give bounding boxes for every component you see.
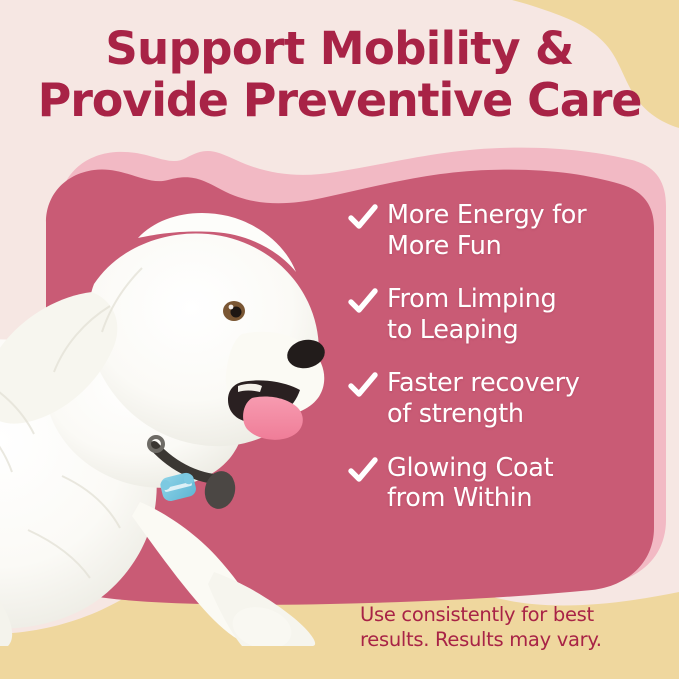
list-item: Glowing Coat from Within [348, 453, 648, 514]
page-title-line-1: Support Mobility & [0, 24, 679, 75]
check-icon [348, 200, 378, 234]
check-icon [348, 284, 378, 318]
check-icon [348, 368, 378, 402]
disclaimer-text: Use consistently for best results. Resul… [360, 603, 670, 653]
list-item: From Limping to Leaping [348, 284, 648, 345]
benefits-list: More Energy for More Fun From Limping to… [348, 200, 648, 514]
list-item-label: From Limping to Leaping [387, 284, 556, 345]
dog-eye-glint [229, 305, 234, 310]
list-item-label: Glowing Coat from Within [387, 453, 553, 514]
check-icon [348, 453, 378, 487]
list-item: Faster recovery of strength [348, 368, 648, 429]
infographic-canvas: Support Mobility & Provide Preventive Ca… [0, 0, 679, 679]
list-item-label: More Energy for More Fun [387, 200, 586, 261]
page-title-line-2: Provide Preventive Care [0, 75, 679, 127]
list-item: More Energy for More Fun [348, 200, 648, 261]
dog-illustration [0, 176, 362, 646]
list-item-label: Faster recovery of strength [387, 368, 580, 429]
dog-photo [0, 176, 362, 646]
page-title: Support Mobility & Provide Preventive Ca… [0, 24, 679, 127]
